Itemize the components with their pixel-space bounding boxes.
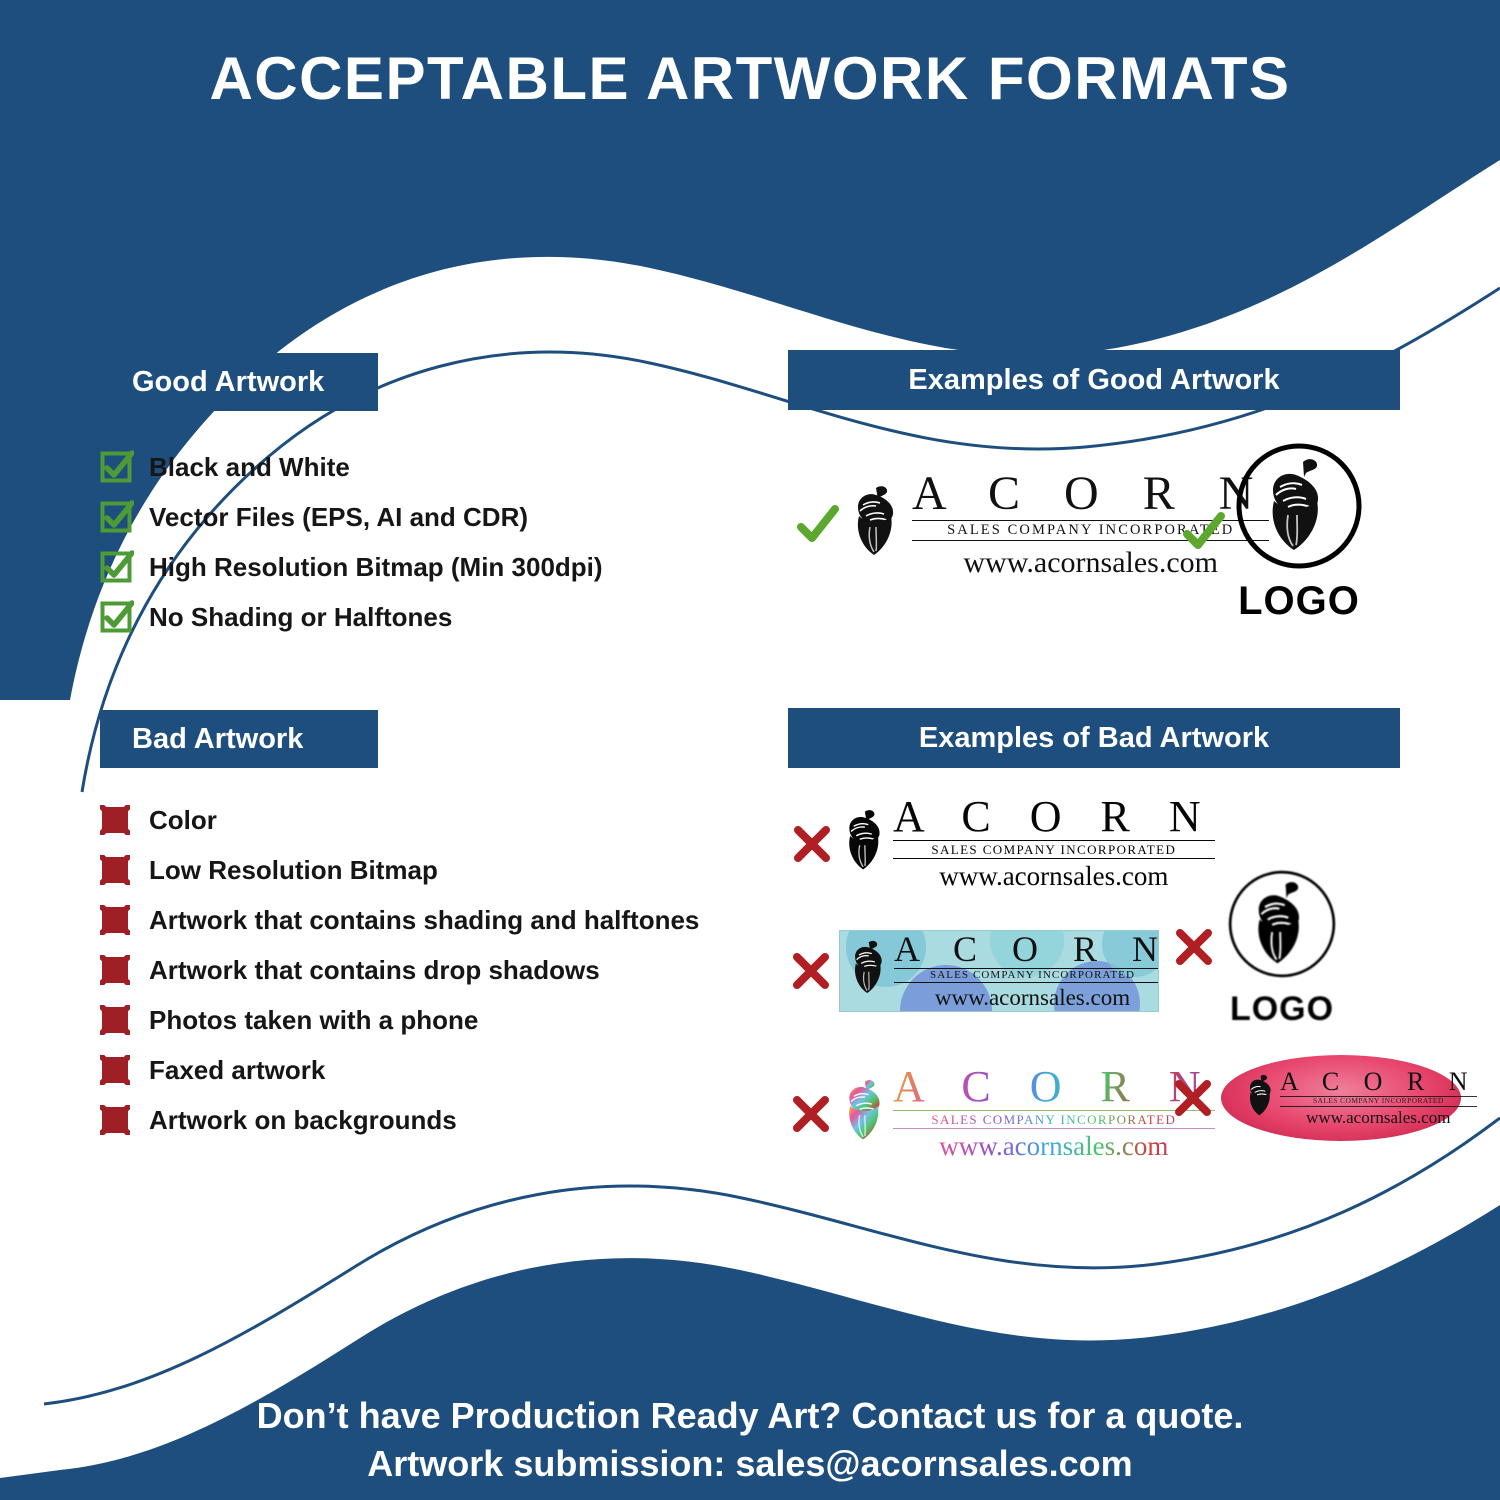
list-item-label: Artwork that contains drop shadows: [146, 955, 600, 986]
acorn-wordmark: A C O R N SALES COMPANY INCORPORATED www…: [1221, 1069, 1477, 1128]
circle-logo-lockup-lowres: LOGO: [1223, 865, 1341, 1029]
pink-oval-panel: A C O R N SALES COMPANY INCORPORATED www…: [1221, 1055, 1461, 1141]
red-x-box-icon: [100, 1005, 146, 1035]
example-bad-lowres-circle-logo: LOGO: [1165, 865, 1341, 1029]
brand-name: A C O R N: [1280, 1069, 1477, 1095]
acorn-circle-icon: [1223, 865, 1341, 988]
red-x-box-icon: [100, 855, 146, 885]
list-item: Black and White: [100, 442, 603, 492]
badge-label: Bad Artwork: [132, 723, 303, 756]
brand-name: A C O R N: [893, 795, 1215, 839]
acorn-icon: [839, 807, 889, 880]
patterned-background-panel: A C O R N SALES COMPANY INCORPORATED www…: [839, 930, 1159, 1012]
red-x-icon: [783, 1081, 839, 1147]
list-item: Artwork on backgrounds: [100, 1095, 699, 1145]
acorn-circle-icon: [1233, 440, 1365, 577]
logo-caption: LOGO: [1238, 579, 1360, 624]
list-item-label: High Resolution Bitmap (Min 300dpi): [146, 552, 603, 583]
green-check-icon: [790, 490, 846, 560]
list-item: Faxed artwork: [100, 1045, 699, 1095]
brand-subtitle: SALES COMPANY INCORPORATED: [1280, 1096, 1477, 1107]
logo-caption: LOGO: [1230, 990, 1334, 1029]
circle-logo-lockup: LOGO: [1233, 440, 1365, 624]
red-x-box-icon: [100, 955, 146, 985]
infographic-canvas: ACCEPTABLE ARTWORK FORMATS Good Artwork …: [0, 0, 1500, 1500]
green-check-box-icon: [100, 500, 146, 534]
example-bad-oval-color: A C O R N SALES COMPANY INCORPORATED www…: [1165, 1055, 1461, 1141]
acorn-wordmark: A C O R N SALES COMPANY INCORPORATED www…: [840, 931, 1159, 1010]
footer-line-2: Artwork submission: sales@acornsales.com: [0, 1440, 1500, 1488]
section-badge-good-artwork: Good Artwork: [100, 353, 378, 411]
red-x-box-icon: [100, 1105, 146, 1135]
footer-line-1: Don’t have Production Ready Art? Contact…: [0, 1392, 1500, 1440]
red-x-box-icon: [100, 1055, 146, 1085]
list-item: No Shading or Halftones: [100, 592, 603, 642]
red-x-icon: [1165, 917, 1223, 977]
green-check-icon: [1175, 502, 1233, 562]
good-artwork-list: Black and White Vector Files (EPS, AI an…: [100, 442, 603, 642]
brand-subtitle: SALES COMPANY INCORPORATED: [894, 968, 1159, 983]
red-x-icon: [1165, 1068, 1221, 1128]
acorn-icon: [1243, 1072, 1277, 1125]
list-item-label: Low Resolution Bitmap: [146, 855, 438, 886]
bad-artwork-list: Color Low Resolution Bitmap Artwork: [100, 795, 699, 1145]
green-check-box-icon: [100, 550, 146, 584]
example-bad-lowres-wordmark: A C O R N SALES COMPANY INCORPORATED www…: [785, 795, 1215, 892]
brand-name: A C O R N: [894, 931, 1159, 967]
section-badge-examples-good: Examples of Good Artwork: [788, 350, 1400, 410]
list-item-label: Photos taken with a phone: [146, 1005, 478, 1036]
acorn-wordmark-lowres: A C O R N SALES COMPANY INCORPORATED www…: [839, 795, 1215, 892]
brand-subtitle: SALES COMPANY INCORPORATED: [893, 840, 1215, 859]
example-bad-on-background: A C O R N SALES COMPANY INCORPORATED www…: [783, 930, 1159, 1012]
acorn-icon: [846, 483, 904, 566]
list-item: Color: [100, 795, 699, 845]
list-item-label: Vector Files (EPS, AI and CDR): [146, 502, 528, 533]
badge-label: Examples of Bad Artwork: [919, 722, 1269, 755]
section-badge-examples-bad: Examples of Bad Artwork: [788, 708, 1400, 768]
example-good-circle-logo: LOGO: [1175, 440, 1365, 624]
example-bad-color-wordmark: A C O R N SALES COMPANY INCORPORATED www…: [783, 1065, 1215, 1162]
acorn-icon: [846, 938, 890, 1003]
acorn-wordmark-color: A C O R N SALES COMPANY INCORPORATED www…: [839, 1065, 1215, 1162]
list-item-label: Black and White: [146, 452, 350, 483]
section-badge-bad-artwork: Bad Artwork: [100, 710, 378, 768]
list-item: Artwork that contains drop shadows: [100, 945, 699, 995]
list-item-label: Faxed artwork: [146, 1055, 325, 1086]
page-title: ACCEPTABLE ARTWORK FORMATS: [0, 44, 1500, 113]
green-check-box-icon: [100, 450, 146, 484]
red-x-box-icon: [100, 905, 146, 935]
acorn-icon: [839, 1077, 889, 1150]
list-item: Vector Files (EPS, AI and CDR): [100, 492, 603, 542]
green-check-box-icon: [100, 600, 146, 634]
list-item: High Resolution Bitmap (Min 300dpi): [100, 542, 603, 592]
brand-url: www.acornsales.com: [1280, 1109, 1477, 1128]
list-item-label: No Shading or Halftones: [146, 602, 452, 633]
list-item-label: Color: [146, 805, 217, 836]
list-item: Artwork that contains shading and halfto…: [100, 895, 699, 945]
badge-label: Examples of Good Artwork: [908, 364, 1279, 397]
red-x-icon: [785, 811, 839, 877]
badge-label: Good Artwork: [132, 366, 324, 399]
brand-url: www.acornsales.com: [894, 985, 1159, 1010]
list-item: Photos taken with a phone: [100, 995, 699, 1045]
red-x-box-icon: [100, 805, 146, 835]
red-x-icon: [783, 938, 839, 1004]
list-item-label: Artwork on backgrounds: [146, 1105, 457, 1136]
list-item-label: Artwork that contains shading and halfto…: [146, 905, 699, 936]
list-item: Low Resolution Bitmap: [100, 845, 699, 895]
